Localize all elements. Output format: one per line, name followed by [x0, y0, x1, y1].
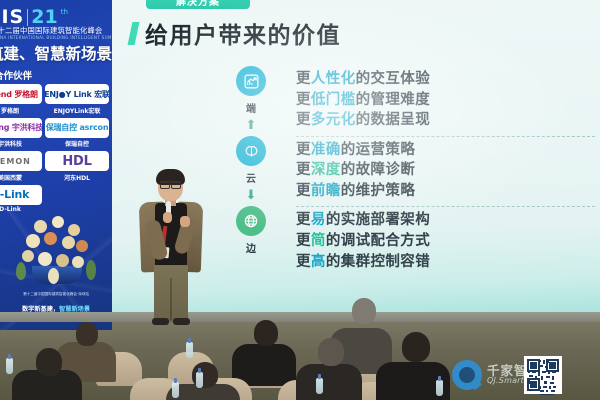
flower — [34, 220, 47, 233]
rail-node-duan: 端 — [236, 66, 266, 115]
partner-caption: 河东HDL — [45, 173, 109, 182]
chart-growth-icon — [236, 66, 266, 96]
banner-logo: BIS 21 th — [0, 6, 106, 28]
value-line: 更低门槛的管理难度 — [296, 90, 595, 111]
partners-label: 合作伙伴 — [0, 68, 32, 82]
flower — [26, 234, 40, 248]
qr-code-pattern — [526, 358, 560, 392]
value-line: 更准确的运营策略 — [296, 140, 595, 161]
flower — [56, 254, 69, 267]
partner-caption: 保瑞自控 — [45, 139, 109, 148]
value-line: 更易的实施部署架构 — [296, 210, 595, 231]
water-bottle — [196, 372, 203, 388]
glasses-icon — [160, 181, 181, 187]
partner-item: HDL 河东HDL — [45, 151, 109, 182]
partner-item: yuhong 宇洪科技 宇洪科技 — [0, 118, 42, 149]
partner-caption: 美国西蒙 — [0, 173, 42, 182]
rail-node-yun: 云 — [236, 136, 266, 185]
partner-logo-grid: legend 罗格朗 罗格朗 ENJ●Y Link 宏联 ENJOYLink宏联… — [0, 84, 112, 213]
water-bottle — [172, 382, 179, 398]
partner-logo: D-Link — [0, 185, 42, 205]
partner-logo: HDL — [45, 151, 109, 171]
rail-label-duan: 端 — [246, 100, 256, 115]
flower — [52, 216, 64, 228]
audience-member — [12, 340, 82, 400]
slide-content: 端 ⬆ 云 ⬇ — [220, 66, 595, 266]
leaf — [16, 262, 26, 280]
value-line: 更高的集群控制容错 — [296, 252, 595, 273]
flower — [62, 236, 75, 249]
slide-title-row: 给用户带来的价值 — [130, 16, 341, 50]
icon-rail: 端 ⬆ 云 ⬇ — [220, 66, 282, 266]
partner-logo: yuhong 宇洪科技 — [0, 118, 42, 138]
banner-subtitle-en: CHINA INTERNATIONAL BUILDING INTELLIGENT… — [0, 35, 112, 40]
value-line: 更深度的故障诊断 — [296, 160, 595, 181]
banner-logo-year: 21 — [31, 6, 57, 28]
value-block-yun: 更准确的运营策略 更深度的故障诊断 更前瞻的维护策略 — [296, 136, 595, 207]
value-line: 更人性化的交互体验 — [296, 69, 595, 90]
rail-label-bian: 边 — [246, 240, 256, 255]
partner-logo: SIEMON — [0, 151, 42, 171]
partner-item: ENJ●Y Link 宏联 ENJOYLink宏联 — [45, 84, 109, 115]
leaf — [86, 260, 96, 280]
partner-logo: legend 罗格朗 — [0, 84, 42, 104]
partner-item: SIEMON 美国西蒙 — [0, 151, 42, 182]
value-line: 更前瞻的维护策略 — [296, 181, 595, 202]
speaker-hand-left — [163, 212, 172, 223]
water-bottle — [6, 358, 13, 374]
value-line: 更简的调试配合方式 — [296, 231, 595, 252]
brain-icon — [236, 136, 266, 166]
water-bottle — [436, 380, 443, 396]
rail-node-bian: 边 — [236, 206, 266, 255]
page-title: 给用户带来的价值 — [145, 16, 341, 50]
value-line: 更多元化的数据呈现 — [296, 110, 595, 131]
water-bottle — [186, 342, 193, 358]
partner-logo: ENJ●Y Link 宏联 — [45, 84, 109, 104]
partner-caption: ENJOYLink宏联 — [45, 106, 109, 115]
banner-logo-mark: BIS — [0, 6, 24, 28]
screenshot-root: 解决方案 给用户带来的价值 端 — [0, 0, 600, 400]
water-bottle — [316, 378, 323, 394]
audience-member — [232, 318, 296, 380]
globe-network-icon — [236, 206, 266, 236]
flower — [72, 256, 84, 268]
partner-item: 保瑞自控 asrcon 保瑞自控 — [45, 118, 109, 149]
qr-code — [524, 356, 562, 394]
value-block-bian: 更易的实施部署架构 更简的调试配合方式 更高的集群控制容错 — [296, 206, 595, 277]
arrow-down-icon: ⬇ — [246, 189, 257, 202]
partner-caption: 罗格朗 — [0, 106, 42, 115]
banner-footer-small: 第十二届中国国际建筑智能化峰会·深圳站 — [14, 292, 98, 297]
flower — [44, 232, 57, 245]
speaker-hand-right — [180, 216, 190, 227]
slide-section-tab: 解决方案 — [146, 0, 250, 9]
banner-headline: 筑建、智慧新场景 — [0, 42, 112, 64]
flower-arrangement — [4, 210, 108, 290]
partner-item: legend 罗格朗 罗格朗 — [0, 84, 42, 115]
event-banner: BIS 21 th 第十二届中国国际建筑智能化峰会 CHINA INTERNAT… — [0, 0, 112, 330]
brand-logo-icon — [452, 360, 482, 390]
value-block-duan: 更人性化的交互体验 更低门槛的管理难度 更多元化的数据呈现 — [296, 66, 595, 136]
partner-item: D-Link D-Link — [0, 185, 42, 214]
partner-caption: 宇洪科技 — [0, 139, 42, 148]
flower — [68, 224, 80, 236]
rail-label-yun: 云 — [246, 170, 256, 185]
title-accent-bar — [128, 22, 140, 45]
value-blocks: 更人性化的交互体验 更低门槛的管理难度 更多元化的数据呈现 更准确的运营策略 更… — [282, 66, 595, 266]
flower — [76, 240, 88, 252]
flower — [38, 252, 52, 266]
audience-member — [296, 334, 362, 400]
flower — [22, 250, 34, 262]
banner-logo-divider — [27, 9, 28, 26]
flower — [48, 268, 59, 284]
banner-logo-sup: th — [61, 8, 68, 16]
partner-logo: 保瑞自控 asrcon — [45, 118, 109, 138]
arrow-up-icon: ⬆ — [246, 119, 257, 132]
